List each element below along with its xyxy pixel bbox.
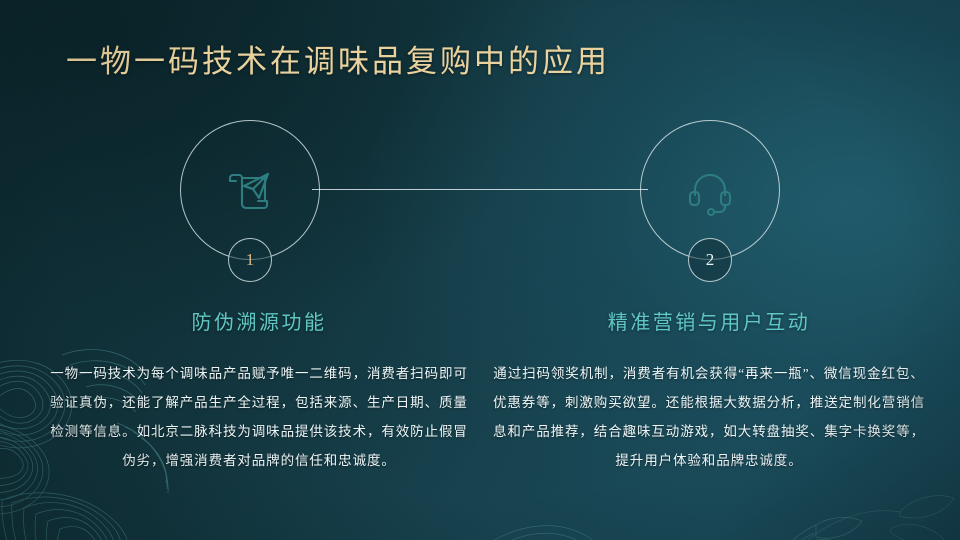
content-column-1: 防伪溯源功能 一物一码技术为每个调味品产品赋予唯一二维码，消费者扫码即可验证真伪… xyxy=(44,306,474,475)
column-body-1: 一物一码技术为每个调味品产品赋予唯一二维码，消费者扫码即可验证真伪，还能了解产品… xyxy=(44,359,474,475)
node-badge-1: 1 xyxy=(228,238,272,282)
column-heading-1: 防伪溯源功能 xyxy=(44,306,474,335)
node-connector-line xyxy=(312,189,648,190)
page-title: 一物一码技术在调味品复购中的应用 xyxy=(66,36,610,81)
slide-canvas: 一物一码技术在调味品复购中的应用 1 xyxy=(0,0,960,540)
diagram-node-1[interactable]: 1 xyxy=(180,120,320,260)
diagram-node-2[interactable]: 2 xyxy=(640,120,780,260)
node-badge-2: 2 xyxy=(688,238,732,282)
document-paper-plane-icon xyxy=(224,164,276,216)
column-heading-2: 精准营销与用户互动 xyxy=(490,306,928,335)
headset-icon xyxy=(684,164,736,216)
node-badge-number: 1 xyxy=(246,250,255,270)
content-column-2: 精准营销与用户互动 通过扫码领奖机制，消费者有机会获得“再来一瓶”、微信现金红包… xyxy=(490,306,928,475)
column-body-2: 通过扫码领奖机制，消费者有机会获得“再来一瓶”、微信现金红包、优惠券等，刺激购买… xyxy=(490,359,928,475)
node-badge-number: 2 xyxy=(706,250,715,270)
